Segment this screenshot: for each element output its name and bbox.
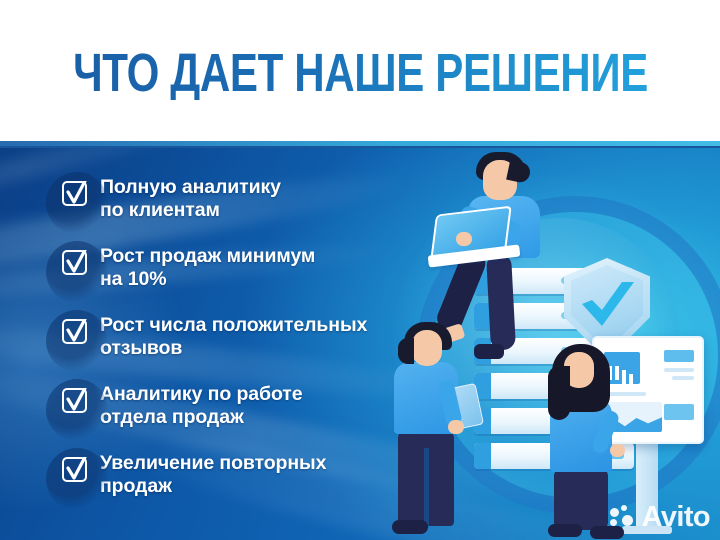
kiosk-post	[636, 442, 658, 530]
list-item[interactable]: Рост числа положительных отзывов	[62, 314, 442, 366]
list-item-label: Рост числа положительных отзывов	[100, 314, 367, 360]
leg	[486, 253, 516, 350]
hand	[456, 232, 472, 246]
content-area: Полную аналитику по клиентам Рост продаж…	[0, 148, 720, 540]
promo-poster: ЧТО ДАЕТ НАШЕ РЕШЕНИЕ	[0, 0, 720, 540]
checkbox-checked-icon[interactable]	[62, 457, 87, 482]
checkbox-checked-icon[interactable]	[62, 388, 87, 413]
list-item[interactable]: Полную аналитику по клиентам	[62, 176, 442, 228]
shoe	[474, 344, 504, 359]
legs	[554, 468, 608, 530]
text-line	[664, 368, 694, 372]
list-item-label: Полную аналитику по клиентам	[100, 176, 281, 222]
benefits-checklist: Полную аналитику по клиентам Рост продаж…	[62, 176, 442, 504]
checkbox-checked-icon[interactable]	[62, 181, 87, 206]
hand	[610, 444, 625, 457]
kiosk-base	[622, 526, 672, 534]
checkbox-checked-icon[interactable]	[62, 319, 87, 344]
list-item-label: Увеличение повторных продаж	[100, 452, 326, 498]
chart-chip	[664, 404, 694, 420]
hand	[448, 420, 464, 434]
header-banner: ЧТО ДАЕТ НАШЕ РЕШЕНИЕ	[0, 0, 720, 148]
checkmark-icon	[578, 280, 638, 338]
shoe	[590, 526, 624, 539]
shoe	[392, 520, 428, 534]
chart-chip	[664, 350, 694, 362]
list-item[interactable]: Аналитику по работе отдела продаж	[62, 383, 442, 435]
text-line	[604, 392, 646, 396]
text-line	[672, 376, 694, 380]
page-title: ЧТО ДАЕТ НАШЕ РЕШЕНИЕ	[63, 46, 657, 100]
hair-side	[548, 366, 570, 420]
list-item[interactable]: Увеличение повторных продаж	[62, 452, 442, 504]
checkbox-checked-icon[interactable]	[62, 250, 87, 275]
list-item[interactable]: Рост продаж минимум на 10%	[62, 245, 442, 297]
shoe	[548, 524, 582, 537]
list-item-label: Рост продаж минимум на 10%	[100, 245, 315, 291]
list-item-label: Аналитику по работе отдела продаж	[100, 383, 302, 429]
